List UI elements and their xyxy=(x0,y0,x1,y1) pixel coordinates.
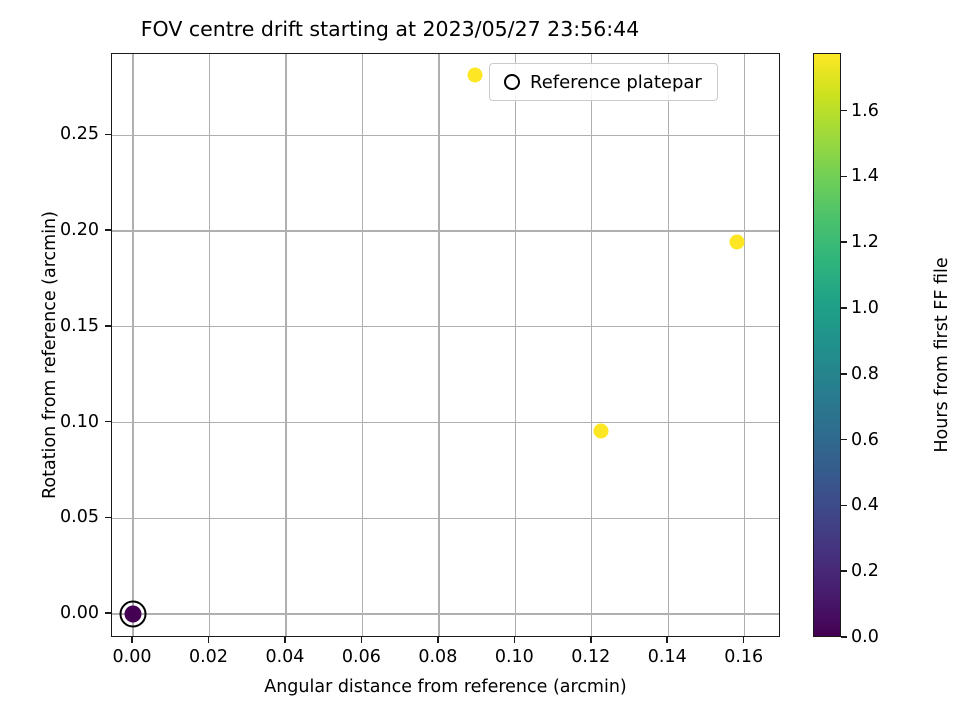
y-axis-label: Rotation from reference (arcmin) xyxy=(40,75,60,635)
plot-canvas xyxy=(112,54,779,636)
colorbar-tick-mark-8 xyxy=(841,110,847,112)
colorbar-tick-mark-6 xyxy=(841,241,847,243)
x-tick-label-8: 0.16 xyxy=(724,647,763,667)
colorbar-tick-mark-2 xyxy=(841,505,847,507)
scatter-plot-axes xyxy=(111,53,780,637)
x-tick-label-7: 0.14 xyxy=(648,647,687,667)
colorbar-label: Hours from first FF file xyxy=(932,105,952,605)
y-tick-mark-2 xyxy=(105,421,111,423)
page-title: FOV centre drift starting at 2023/05/27 … xyxy=(0,17,780,41)
colorbar xyxy=(813,53,841,637)
x-tick-mark-4 xyxy=(437,637,439,643)
x-tick-mark-8 xyxy=(743,637,745,643)
colorbar-tick-label-7: 1.4 xyxy=(851,166,879,186)
colorbar-tick-mark-1 xyxy=(841,570,847,572)
x-tick-mark-7 xyxy=(666,637,668,643)
colorbar-tick-label-2: 0.4 xyxy=(851,495,879,515)
data-point-2 xyxy=(730,234,745,249)
gridline-vertical-8 xyxy=(744,54,745,636)
colorbar-tick-mark-5 xyxy=(841,307,847,309)
colorbar-tick-label-4: 0.8 xyxy=(851,364,879,384)
y-tick-mark-0 xyxy=(105,612,111,614)
x-tick-label-5: 0.10 xyxy=(495,647,534,667)
gridline-horizontal-0 xyxy=(112,613,779,614)
colorbar-tick-mark-7 xyxy=(841,176,847,178)
y-tick-mark-5 xyxy=(105,134,111,136)
colorbar-tick-label-1: 0.2 xyxy=(851,561,879,581)
gridline-vertical-6 xyxy=(591,54,592,636)
gridline-horizontal-3 xyxy=(112,326,779,327)
gridline-vertical-4 xyxy=(438,54,439,636)
gridline-vertical-7 xyxy=(668,54,669,636)
legend-open-circle-icon xyxy=(504,74,520,90)
reference-platepar-ring xyxy=(120,601,147,628)
x-tick-mark-1 xyxy=(208,637,210,643)
x-tick-label-1: 0.02 xyxy=(189,647,228,667)
x-tick-label-0: 0.00 xyxy=(113,647,152,667)
x-axis-label: Angular distance from reference (arcmin) xyxy=(111,677,780,697)
x-tick-label-2: 0.04 xyxy=(265,647,304,667)
gridline-vertical-0 xyxy=(132,54,133,636)
gridline-vertical-5 xyxy=(515,54,516,636)
gridline-horizontal-1 xyxy=(112,518,779,519)
x-tick-mark-6 xyxy=(590,637,592,643)
gridline-horizontal-4 xyxy=(112,230,779,231)
data-point-3 xyxy=(468,68,483,83)
colorbar-tick-mark-4 xyxy=(841,373,847,375)
gridline-horizontal-5 xyxy=(112,135,779,136)
colorbar-tick-label-8: 1.6 xyxy=(851,101,879,121)
gridline-vertical-3 xyxy=(362,54,363,636)
colorbar-tick-label-3: 0.6 xyxy=(851,430,879,450)
x-tick-mark-2 xyxy=(284,637,286,643)
y-tick-mark-4 xyxy=(105,229,111,231)
x-tick-mark-0 xyxy=(131,637,133,643)
colorbar-tick-mark-3 xyxy=(841,439,847,441)
gridline-horizontal-2 xyxy=(112,422,779,423)
colorbar-tick-label-6: 1.2 xyxy=(851,232,879,252)
gridline-vertical-2 xyxy=(285,54,286,636)
x-tick-label-6: 0.12 xyxy=(571,647,610,667)
colorbar-tick-label-5: 1.0 xyxy=(851,298,879,318)
colorbar-tick-mark-0 xyxy=(841,636,847,638)
x-tick-mark-5 xyxy=(514,637,516,643)
legend: Reference platepar xyxy=(489,63,718,101)
x-tick-mark-3 xyxy=(361,637,363,643)
y-tick-mark-3 xyxy=(105,325,111,327)
legend-item-label: Reference platepar xyxy=(530,72,706,93)
x-tick-label-3: 0.06 xyxy=(342,647,381,667)
gridline-vertical-1 xyxy=(209,54,210,636)
colorbar-tick-label-0: 0.0 xyxy=(851,627,879,647)
y-tick-mark-1 xyxy=(105,517,111,519)
data-point-1 xyxy=(594,424,609,439)
x-tick-label-4: 0.08 xyxy=(418,647,457,667)
